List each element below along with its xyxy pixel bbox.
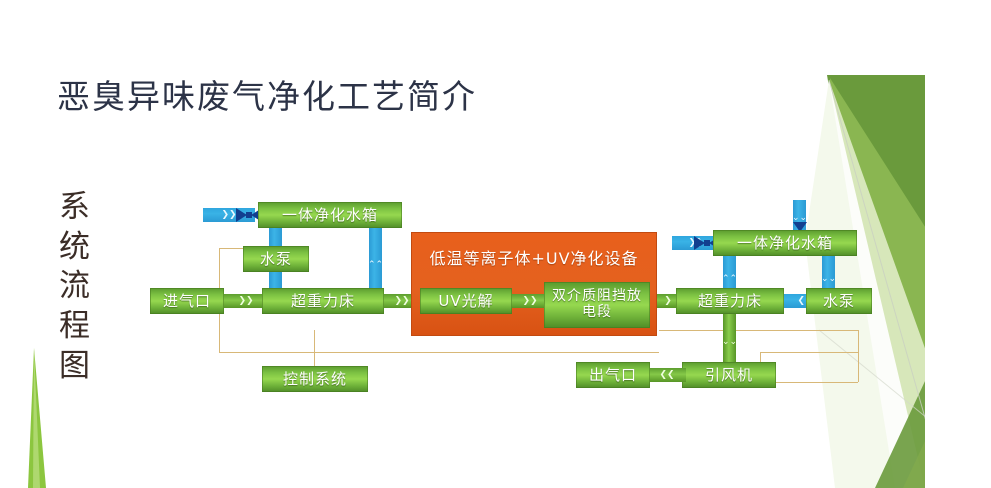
vtitle-char-5: 图 xyxy=(52,347,98,387)
node-hgb-left[interactable]: 超重力床 xyxy=(262,288,384,314)
chevron-right-icon: ❯❯ xyxy=(512,294,548,308)
panel-title: 低温等离子体+UV净化设备 xyxy=(412,245,656,269)
node-label: 引风机 xyxy=(705,367,753,384)
node-label: UV光解 xyxy=(438,293,493,310)
connector-fan-to-outlet: ❮❮ xyxy=(648,368,686,382)
wire-control-stub xyxy=(314,330,315,366)
vtitle-char-1: 系 xyxy=(52,188,98,228)
node-tank-right[interactable]: 一体净化水箱 xyxy=(713,230,857,256)
node-tank-left[interactable]: 一体净化水箱 xyxy=(258,202,402,228)
node-label: 进气口 xyxy=(163,293,211,310)
node-dbd[interactable]: 双介质阻挡放电段 xyxy=(544,282,650,328)
chevron-left-icon: ❮❮ xyxy=(648,368,686,382)
node-label: 控制系统 xyxy=(283,371,347,388)
wire-right-vertical-a xyxy=(858,330,859,382)
section-vertical-title: 系 统 流 程 图 xyxy=(52,188,98,386)
node-uv-photolysis[interactable]: UV光解 xyxy=(420,288,512,314)
node-label: 超重力床 xyxy=(291,293,355,310)
connector-uv-to-dbd: ❯❯ xyxy=(512,294,548,308)
node-pump-left[interactable]: 水泵 xyxy=(243,246,309,272)
node-outlet[interactable]: 出气口 xyxy=(576,362,650,388)
slide-canvas: 恶臭异味废气净化工艺简介 系 统 流 程 图 ❯❯ 一体净化水箱 ⌄⌄⌄ 水泵 xyxy=(0,0,991,488)
node-label: 出气口 xyxy=(589,367,637,384)
node-inlet[interactable]: 进气口 xyxy=(150,288,224,314)
node-label: 双介质阻挡放电段 xyxy=(548,289,646,320)
wire-left-bottom xyxy=(219,352,659,353)
node-label: 超重力床 xyxy=(698,293,762,310)
node-pump-right[interactable]: 水泵 xyxy=(806,288,872,314)
wire-right-lower xyxy=(760,352,858,353)
page-title: 恶臭异味废气净化工艺简介 xyxy=(57,78,477,116)
node-hgb-right[interactable]: 超重力床 xyxy=(676,288,784,314)
vtitle-char-4: 程 xyxy=(52,307,98,347)
vtitle-char-3: 流 xyxy=(52,267,98,307)
node-label: 一体净化水箱 xyxy=(282,207,378,224)
wire-right-upper xyxy=(659,330,859,331)
vtitle-char-2: 统 xyxy=(52,228,98,268)
node-label: 水泵 xyxy=(260,251,292,268)
node-fan[interactable]: 引风机 xyxy=(682,362,776,388)
node-control-system[interactable]: 控制系统 xyxy=(262,366,368,392)
node-label: 一体净化水箱 xyxy=(737,235,833,252)
node-label: 水泵 xyxy=(823,293,855,310)
